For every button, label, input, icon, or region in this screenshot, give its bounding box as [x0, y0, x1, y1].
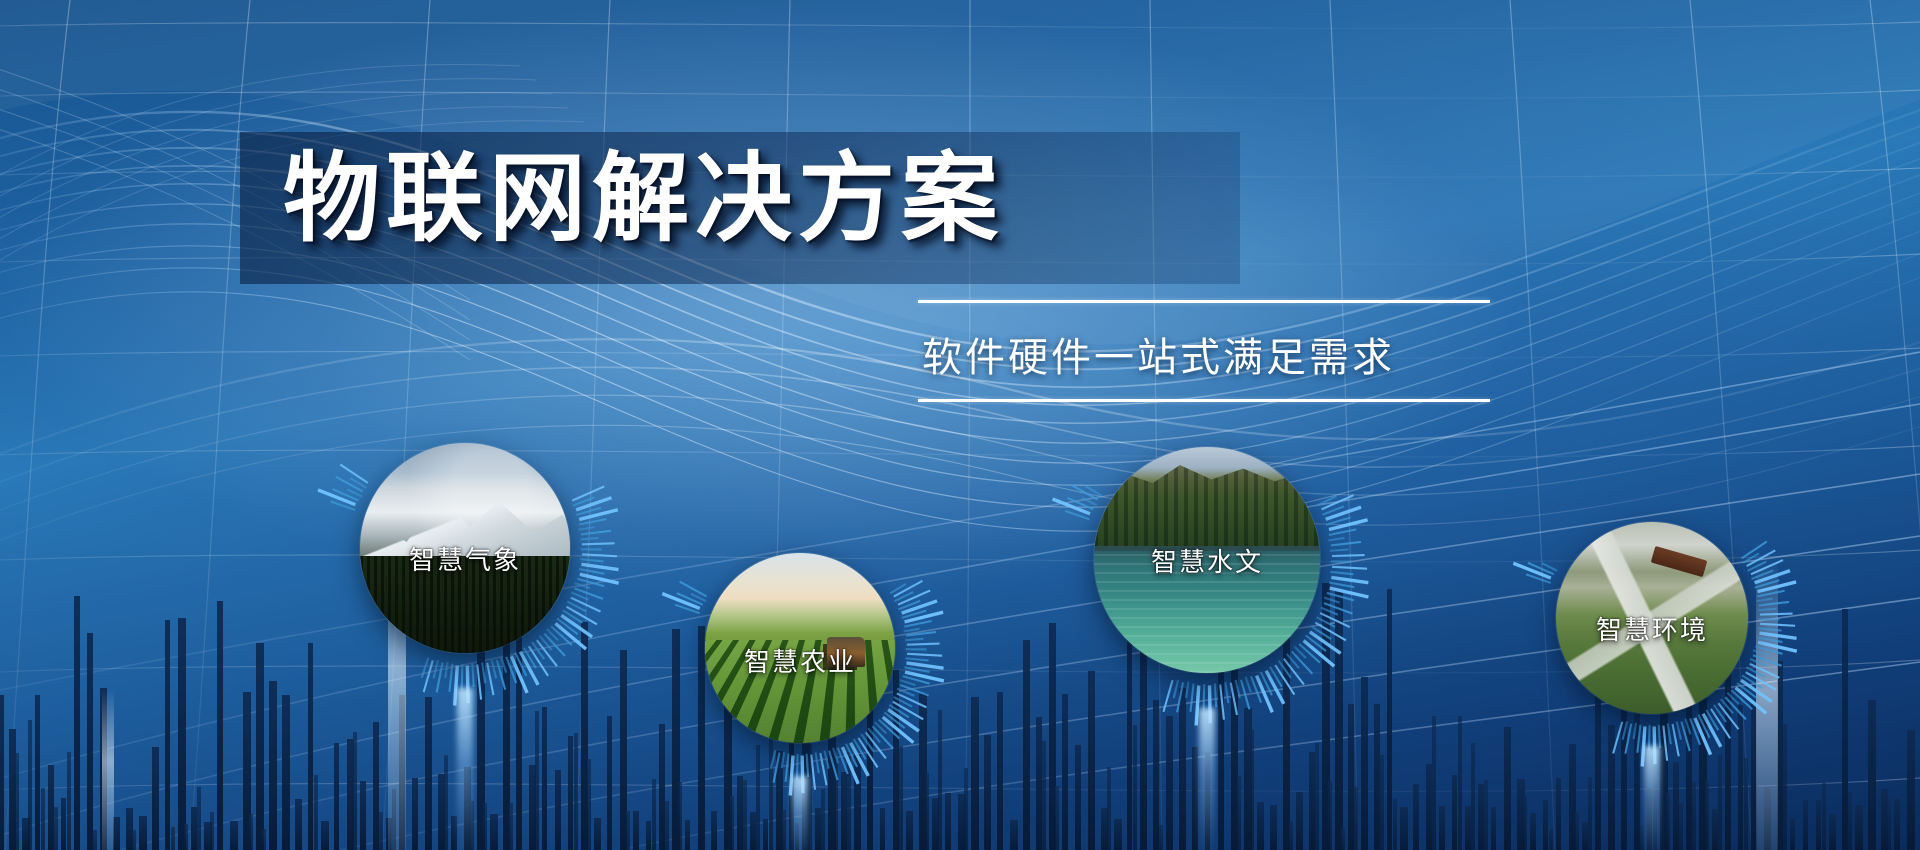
iot-solution-banner: 物联网解决方案 软件硬件一站式满足需求 智慧气象智慧农业智慧水文智慧环境: [0, 0, 1920, 850]
node-photo-environment[interactable]: 智慧环境: [1556, 522, 1748, 714]
node-photo-hydrology[interactable]: 智慧水文: [1094, 447, 1320, 673]
node-beam-agriculture: [792, 776, 808, 850]
node-photo-art-agriculture: [705, 553, 895, 743]
solution-node-hydrology[interactable]: 智慧水文: [1029, 382, 1385, 738]
node-photo-art-environment: [1556, 522, 1748, 714]
node-photo-agriculture[interactable]: 智慧农业: [705, 553, 895, 743]
node-photo-art-hydrology: [1094, 447, 1320, 673]
solution-node-weather[interactable]: 智慧气象: [295, 378, 635, 718]
node-beam-environment: [1644, 746, 1660, 850]
solution-node-environment[interactable]: 智慧环境: [1494, 460, 1810, 776]
node-photo-art-weather: [360, 443, 570, 653]
solution-node-agriculture[interactable]: 智慧农业: [642, 490, 958, 806]
node-beam-hydrology: [1199, 708, 1215, 850]
solution-nodes: 智慧气象智慧农业智慧水文智慧环境: [0, 0, 1920, 850]
node-beam-weather: [457, 688, 473, 850]
node-photo-weather[interactable]: 智慧气象: [360, 443, 570, 653]
